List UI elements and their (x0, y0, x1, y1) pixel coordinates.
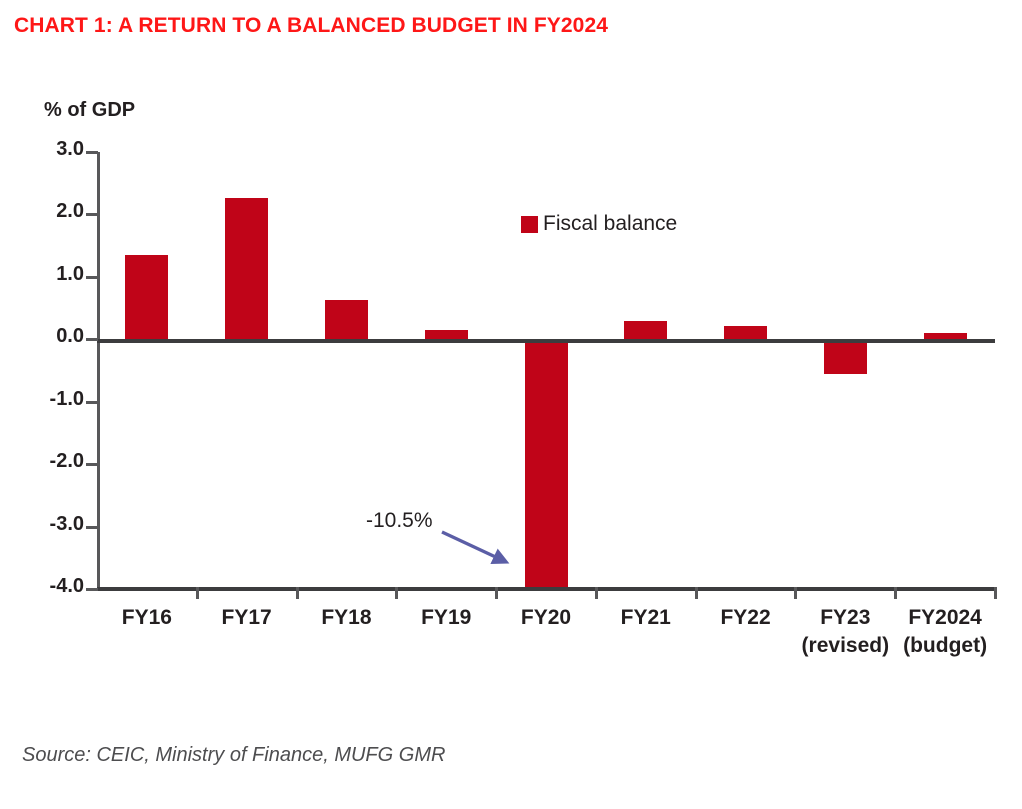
y-axis-tick-label: 0.0 (56, 325, 84, 348)
x-axis-tick (196, 587, 199, 599)
bar-fy17[interactable] (225, 198, 268, 339)
zero-reference-line (97, 339, 995, 343)
x-axis-tick (296, 587, 299, 599)
x-axis-line (97, 587, 995, 591)
y-axis-tick-label: -2.0 (50, 450, 84, 473)
bar-fy23[interactable] (824, 339, 867, 373)
bar-fy20[interactable] (525, 339, 568, 589)
bar-fy18[interactable] (325, 300, 368, 339)
bar-fy21[interactable] (624, 321, 667, 340)
x-axis-label-fy21: FY21 (596, 604, 696, 632)
annotation-arrow-icon (440, 528, 520, 573)
y-axis-tick (86, 151, 98, 154)
x-axis-label-line2: (revised) (795, 632, 895, 660)
x-axis-tick (894, 587, 897, 599)
bar-fy22[interactable] (724, 326, 767, 340)
x-axis-label-fy23: FY23(revised) (795, 604, 895, 660)
x-axis-label-fy18: FY18 (297, 604, 397, 632)
y-axis-tick (86, 463, 98, 466)
y-axis-tick-label: -4.0 (50, 575, 84, 598)
y-axis-tick-label: -3.0 (50, 513, 84, 536)
y-axis-unit-label: % of GDP (44, 99, 135, 122)
legend-label-fiscal-balance: Fiscal balance (543, 212, 677, 236)
y-axis-tick (86, 276, 98, 279)
x-axis-category-labels: FY16FY17FY18FY19FY20FY21FY22FY23(revised… (97, 604, 995, 676)
y-axis-tick-labels: 3.02.01.00.0-1.0-2.0-3.0-4.0 (12, 152, 84, 589)
y-axis-tick-label: 2.0 (56, 200, 84, 223)
x-axis-label-line1: FY16 (122, 606, 172, 629)
x-axis-tick (994, 587, 997, 599)
x-axis-label-line2: (budget) (895, 632, 995, 660)
y-axis-tick-label: -1.0 (50, 388, 84, 411)
y-axis-line (97, 152, 100, 589)
bar-fy16[interactable] (125, 255, 168, 339)
y-axis-tick (86, 401, 98, 404)
x-axis-label-line1: FY21 (621, 606, 671, 629)
x-axis-tick (595, 587, 598, 599)
y-axis-tick-label: 1.0 (56, 263, 84, 286)
y-axis-tick (86, 338, 98, 341)
x-axis-label-line1: FY19 (421, 606, 471, 629)
x-axis-label-fy2024: FY2024(budget) (895, 604, 995, 660)
y-axis-tick (86, 588, 98, 591)
x-axis-label-fy22: FY22 (696, 604, 796, 632)
x-axis-label-line1: FY18 (321, 606, 371, 629)
x-axis-tick (495, 587, 498, 599)
x-axis-tick (794, 587, 797, 599)
y-axis-tick (86, 526, 98, 529)
x-axis-label-fy20: FY20 (496, 604, 596, 632)
chart-title: CHART 1: A RETURN TO A BALANCED BUDGET I… (14, 14, 608, 38)
annotation-value-label: -10.5% (366, 509, 433, 533)
y-axis-tick (86, 213, 98, 216)
x-axis-tick (395, 587, 398, 599)
x-axis-label-line1: FY2024 (908, 606, 982, 629)
x-axis-label-fy16: FY16 (97, 604, 197, 632)
x-axis-label-line1: FY20 (521, 606, 571, 629)
x-axis-label-fy19: FY19 (396, 604, 496, 632)
source-note: Source: CEIC, Ministry of Finance, MUFG … (22, 744, 445, 767)
x-axis-tick (695, 587, 698, 599)
x-axis-label-line1: FY23 (820, 606, 870, 629)
x-axis-label-line1: FY17 (222, 606, 272, 629)
y-axis-tick-label: 3.0 (56, 138, 84, 161)
chart-legend[interactable]: Fiscal balance (521, 212, 677, 236)
x-axis-label-line1: FY22 (720, 606, 770, 629)
bar-fy19[interactable] (425, 330, 468, 339)
x-axis-label-fy17: FY17 (197, 604, 297, 632)
legend-swatch-fiscal-balance (521, 216, 538, 233)
